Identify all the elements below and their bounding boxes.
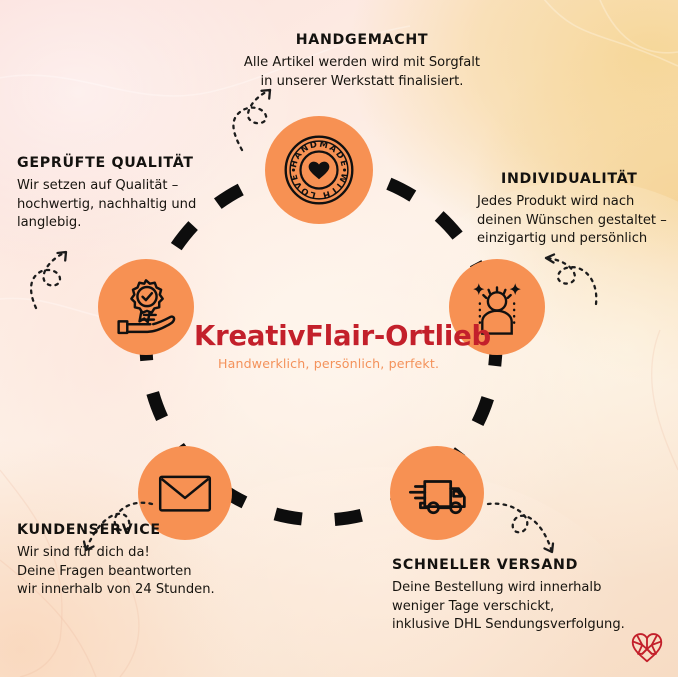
brand-name: KreativFlair-Ortlieb: [194, 323, 491, 351]
feature-body-line: Alle Artikel werden wird mit Sorgfalt: [222, 54, 502, 73]
feature-text-kundenservice: KUNDENSERVICE Wir sind für dich da! Dein…: [17, 522, 257, 600]
feature-text-individualitaet: INDIVIDUALITÄT Jedes Produkt wird nach d…: [477, 171, 678, 249]
feature-title-handgemacht: HANDGEMACHT: [222, 32, 502, 48]
feature-icon-schneller-versand[interactable]: [390, 446, 484, 540]
envelope-icon: [154, 462, 216, 524]
feature-title-schneller-versand: SCHNELLER VERSAND: [392, 557, 678, 573]
feature-body-line: Wir sind für dich da!: [17, 544, 257, 563]
geometric-heart-icon-corner: [630, 631, 664, 663]
feature-icon-handgemacht[interactable]: HANDMADE WITH LOVE: [265, 116, 373, 224]
feature-body-individualitaet: Jedes Produkt wird nach deinen Wünschen …: [477, 193, 678, 249]
feature-body-schneller-versand: Deine Bestellung wird innerhalb weniger …: [392, 579, 678, 635]
brand-logo[interactable]: KreativFlair-Ortlieb Handwerklich, persö…: [186, 316, 454, 378]
delivery-truck-icon: [401, 457, 473, 529]
feature-text-schneller-versand: SCHNELLER VERSAND Deine Bestellung wird …: [392, 557, 678, 635]
brand-logo-text: KreativFlair-Ortlieb Handwerklich, persö…: [194, 323, 491, 371]
feature-body-line: langlebig.: [17, 214, 247, 233]
feature-text-gepruefte-qualitaet: GEPRÜFTE QUALITÄT Wir setzen auf Qualitä…: [17, 155, 247, 233]
feature-title-gepruefte-qualitaet: GEPRÜFTE QUALITÄT: [17, 155, 247, 171]
feature-body-line: wir innerhalb von 24 Stunden.: [17, 581, 257, 600]
feature-body-handgemacht: Alle Artikel werden wird mit Sorgfalt in…: [222, 54, 502, 91]
feature-title-kundenservice: KUNDENSERVICE: [17, 522, 257, 538]
infographic-poster: HANDMADE WITH LOVE: [0, 0, 678, 677]
feature-body-line: in unserer Werkstatt finalisiert.: [222, 73, 502, 92]
feature-body-line: deinen Wünschen gestaltet –: [477, 212, 678, 231]
feature-body-line: weniger Tage verschickt,: [392, 598, 678, 617]
feature-body-line: einzigartig und persönlich: [477, 230, 678, 249]
brand-tagline: Handwerklich, persönlich, perfekt.: [218, 356, 491, 371]
feature-body-line: hochwertig, nachhaltig und: [17, 196, 247, 215]
feature-text-handgemacht: HANDGEMACHT Alle Artikel werden wird mit…: [222, 32, 502, 91]
feature-body-line: Jedes Produkt wird nach: [477, 193, 678, 212]
feature-body-line: Deine Fragen beantworten: [17, 563, 257, 582]
feature-body-line: Wir setzen auf Qualität –: [17, 177, 247, 196]
feature-title-individualitaet: INDIVIDUALITÄT: [501, 171, 678, 187]
handmade-with-love-stamp-icon: HANDMADE WITH LOVE: [282, 133, 356, 207]
feature-body-gepruefte-qualitaet: Wir setzen auf Qualität – hochwertig, na…: [17, 177, 247, 233]
feature-body-kundenservice: Wir sind für dich da! Deine Fragen beant…: [17, 544, 257, 600]
hand-holding-quality-seal-icon: [110, 271, 182, 343]
feature-body-line: Deine Bestellung wird innerhalb: [392, 579, 678, 598]
feature-icon-gepruefte-qualitaet[interactable]: [98, 259, 194, 355]
